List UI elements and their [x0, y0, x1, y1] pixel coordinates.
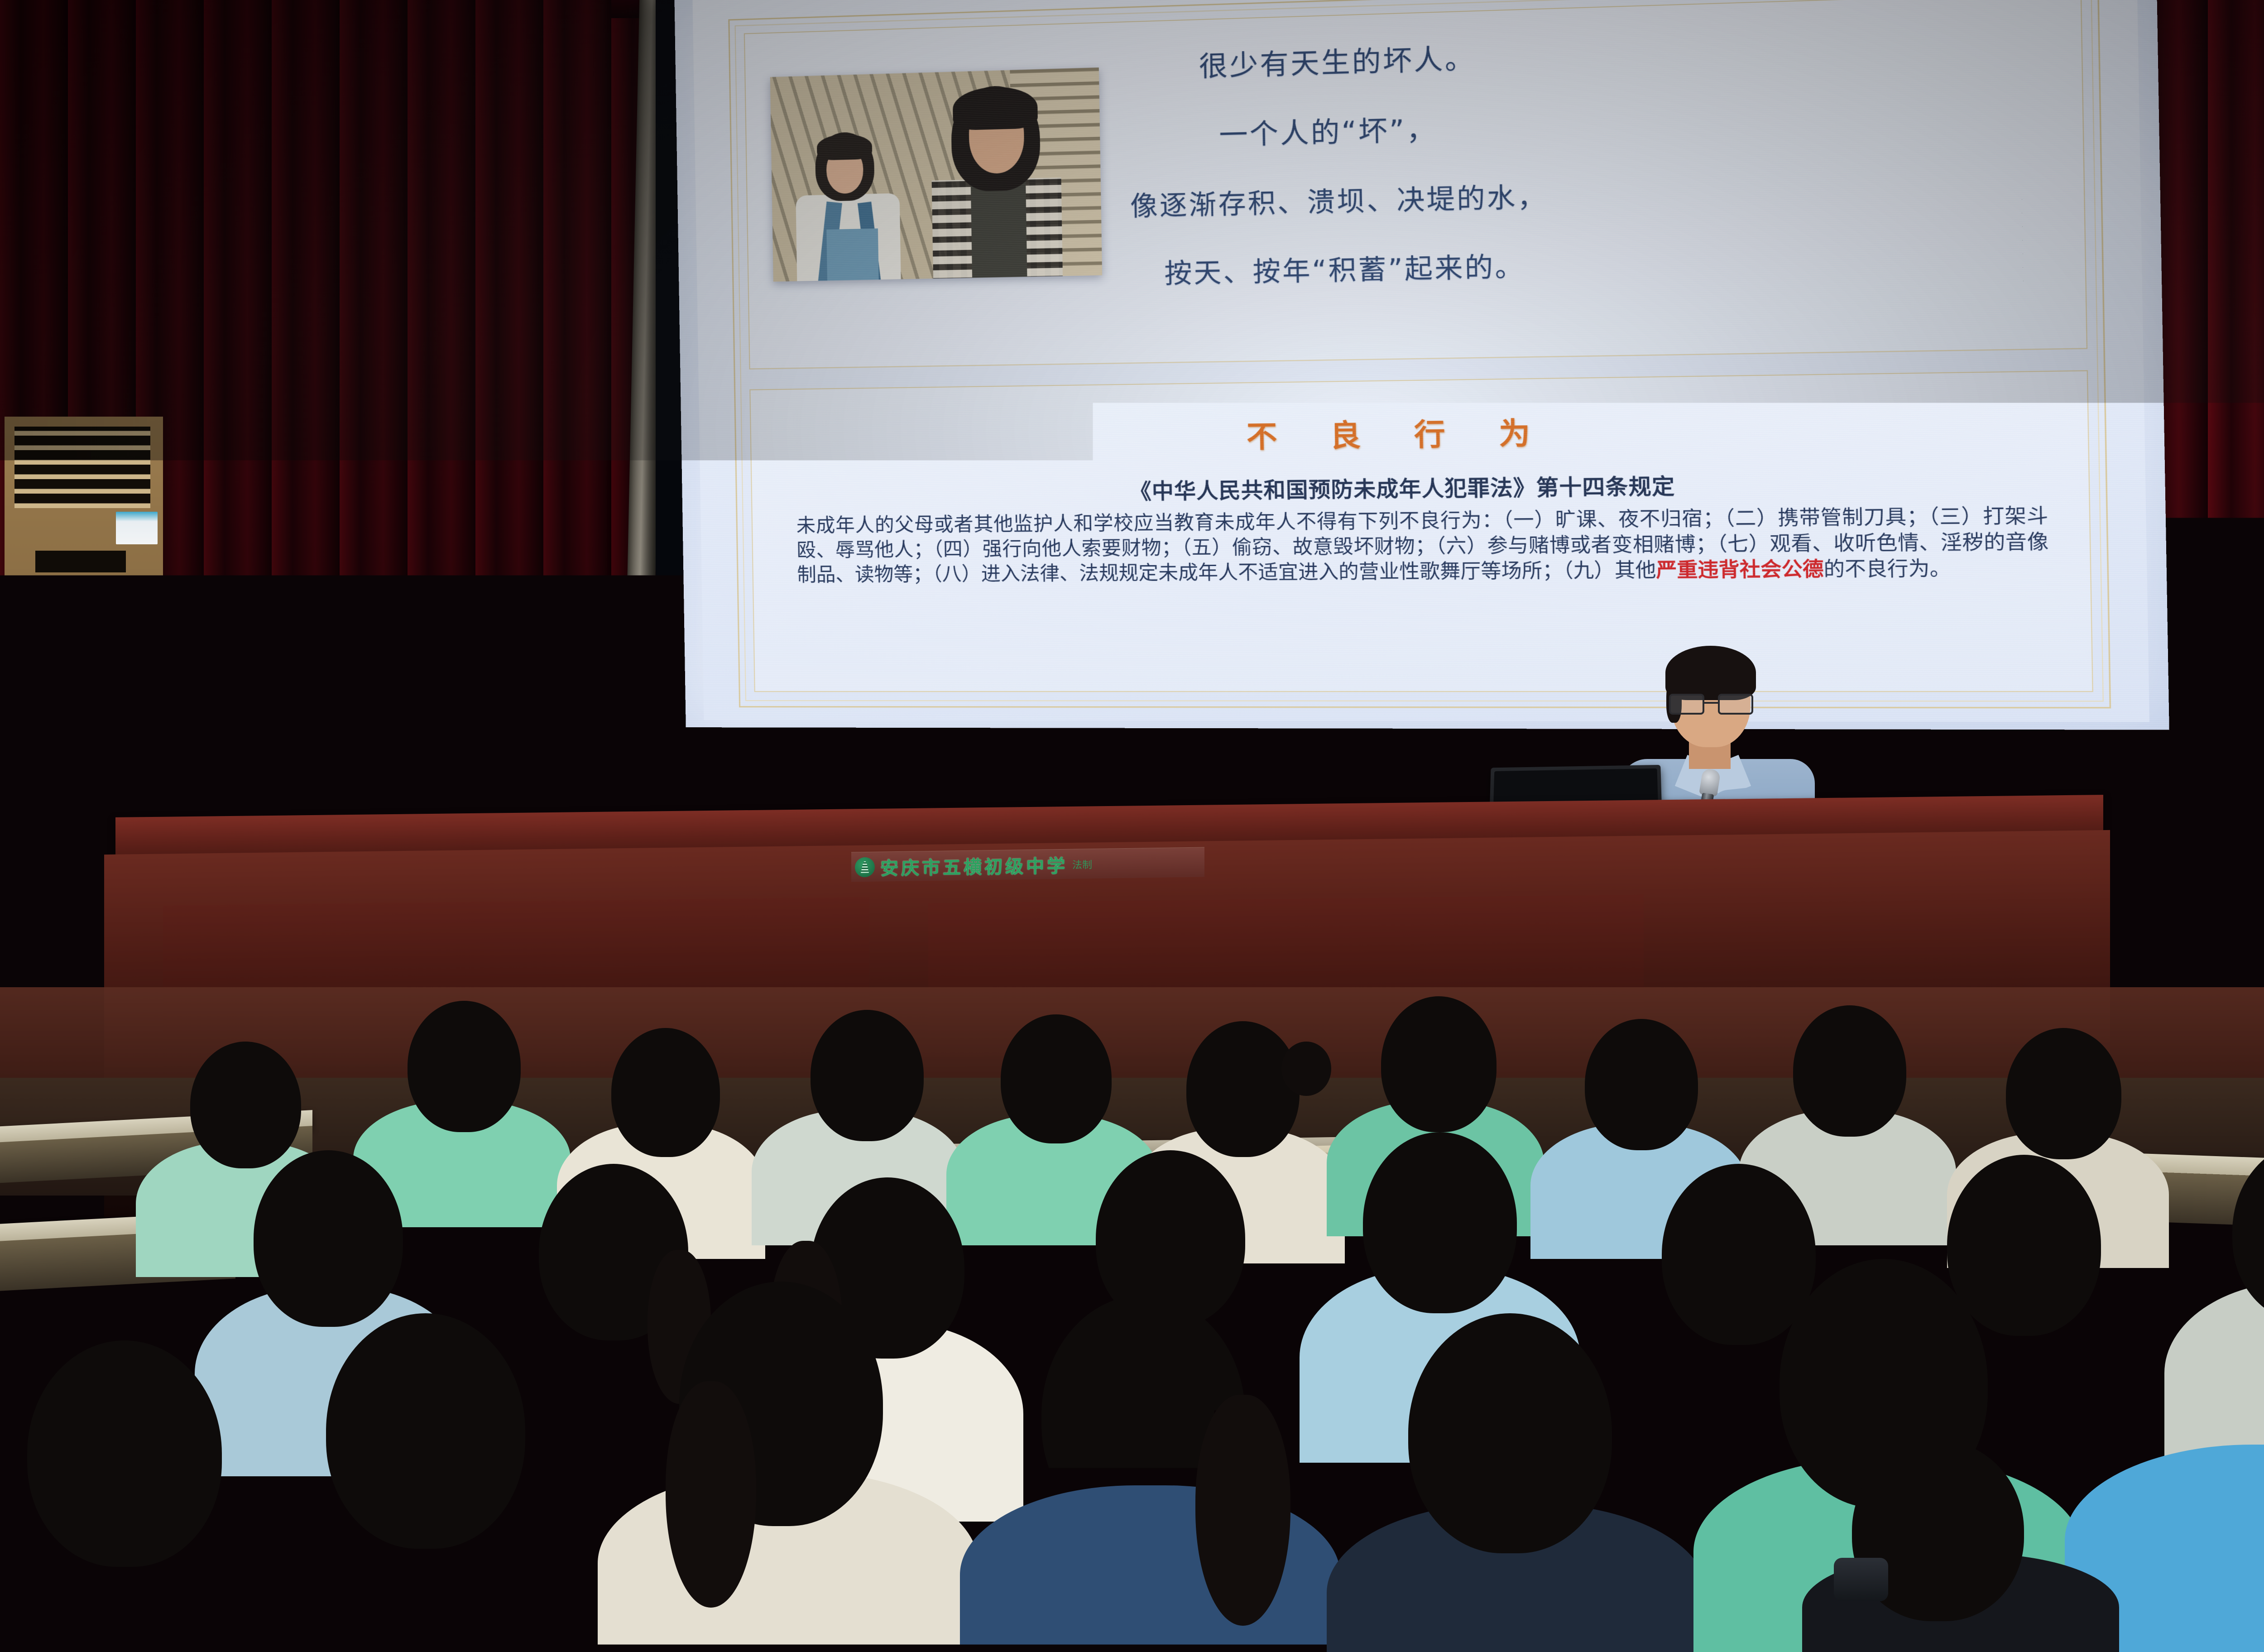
power-strip[interactable]	[2123, 801, 2197, 830]
banner-school-name: 安庆市五横初级中学	[880, 851, 1068, 880]
pagoda-logo-icon	[855, 857, 875, 877]
auditorium-scene: 很少有天生的坏人。 一个人的“坏”， 像逐渐存积、溃坝、决堤的水， 按天、按年“…	[0, 0, 2264, 1652]
ac-energy-label	[116, 512, 158, 544]
slide-quote-block: 很少有天生的坏人。 一个人的“坏”， 像逐渐存积、溃坝、决堤的水， 按天、按年“…	[1128, 27, 2065, 288]
film-still-photo	[770, 67, 1102, 282]
slide-law-body: 未成年人的父母或者其他监护人和学校应当教育未成年人不得有下列不良行为：（一）旷课…	[796, 503, 2049, 588]
photo-girl-overall-bib	[826, 228, 879, 282]
projection-screen: 很少有天生的坏人。 一个人的“坏”， 像逐渐存积、溃坝、决堤的水， 按天、按年“…	[674, 0, 2169, 730]
quote-line-3: 像逐渐存积、溃坝、决堤的水，	[1130, 171, 2063, 221]
stage-chair	[335, 734, 448, 820]
wristwatch	[1834, 1558, 1888, 1601]
stage-chair	[2232, 811, 2264, 928]
presentation-slide: 很少有天生的坏人。 一个人的“坏”， 像逐渐存积、溃坝、决堤的水， 按天、按年“…	[692, 0, 2149, 722]
law-body-after: 的不良行为。	[1823, 557, 1951, 581]
stage-chair	[213, 738, 326, 822]
banner-suffix: 法制	[1072, 857, 1092, 872]
law-body-highlight: 严重违背社会公德	[1656, 557, 1824, 582]
ac-louver-vent	[14, 427, 150, 508]
quote-line-2: 一个人的“坏”，	[1219, 99, 2062, 150]
ac-display-panel	[35, 551, 126, 572]
glasses-icon	[1669, 694, 1753, 715]
school-name-banner: 安庆市五横初级中学 法制	[851, 847, 1204, 882]
